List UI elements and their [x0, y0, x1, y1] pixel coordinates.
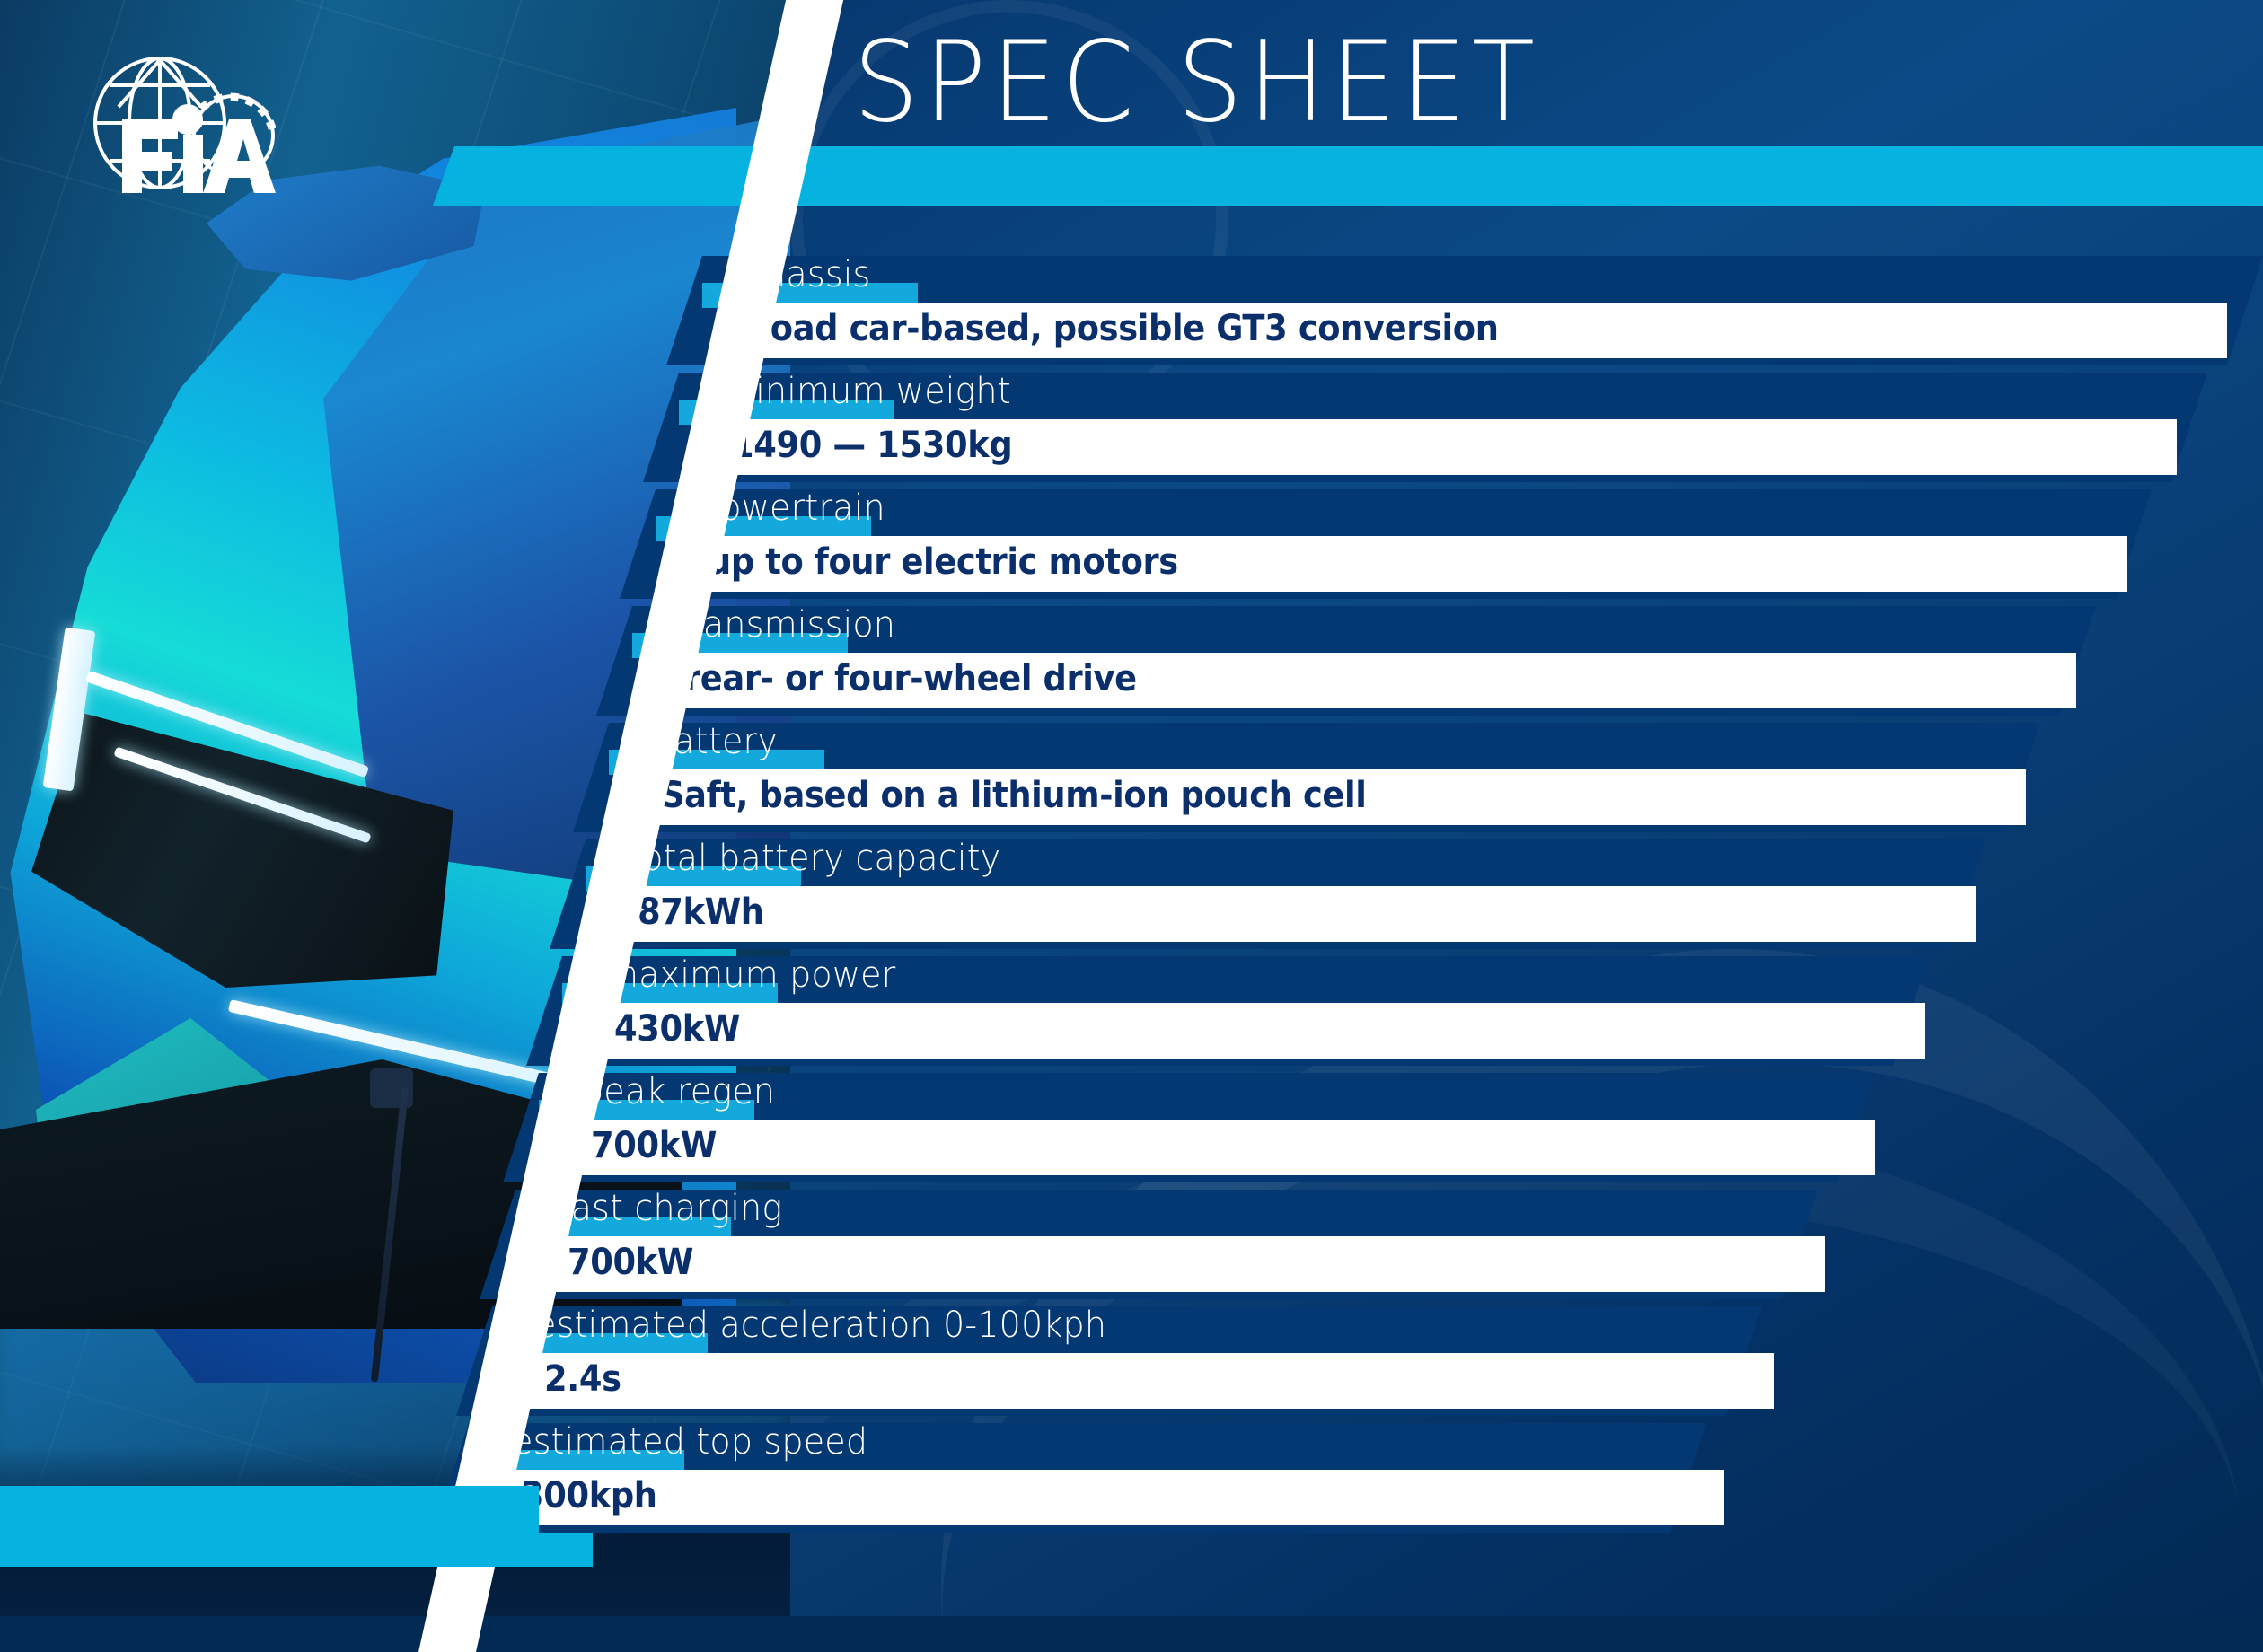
- spec-value: 700kW: [568, 1242, 693, 1283]
- spec-label: chassis: [745, 254, 871, 295]
- spec-label: estimated acceleration 0-100kph: [535, 1305, 1106, 1346]
- spec-value: road car-based, possible GT3 conversion: [754, 308, 1499, 349]
- spec-value: 1490 — 1530kg: [731, 425, 1012, 466]
- spec-value-bar: [559, 1120, 1875, 1175]
- spec-label: estimated top speed: [512, 1421, 867, 1463]
- spec-label: peak regen: [582, 1071, 775, 1112]
- spec-label: fast charging: [559, 1188, 782, 1229]
- spec-label: battery: [652, 721, 778, 762]
- spec-value: up to four electric motors: [708, 541, 1178, 583]
- spec-value-bar: [489, 1470, 1724, 1525]
- spec-value: 700kW: [591, 1125, 717, 1166]
- spec-label: powertrain: [699, 488, 885, 529]
- spec-label: maximum power: [605, 954, 895, 996]
- spec-value: 87kWh: [638, 892, 764, 933]
- spec-value-bar: [512, 1353, 1774, 1409]
- spec-value: 300kph: [521, 1475, 657, 1516]
- spec-value-bar: [535, 1236, 1825, 1292]
- bottom-accent-bar-left: [0, 1486, 539, 1567]
- page-title: SPEC SHEET: [853, 27, 1540, 138]
- fia-logo: [83, 49, 276, 193]
- spec-value: 2.4s: [544, 1358, 621, 1400]
- spec-value: 430kW: [614, 1008, 740, 1050]
- spec-label: transmission: [675, 604, 895, 646]
- spec-value: rear- or four-wheel drive: [684, 658, 1137, 699]
- spec-label: minimum weight: [722, 371, 1011, 412]
- spec-label: total battery capacity: [629, 838, 1000, 879]
- spec-rows: chassisroad car-based, possible GT3 conv…: [0, 0, 2263, 1616]
- spec-value-bar: [582, 1003, 1925, 1059]
- spec-value-bar: [605, 886, 1976, 942]
- spec-value: Saft, based on a lithium-ion pouch cell: [661, 775, 1367, 816]
